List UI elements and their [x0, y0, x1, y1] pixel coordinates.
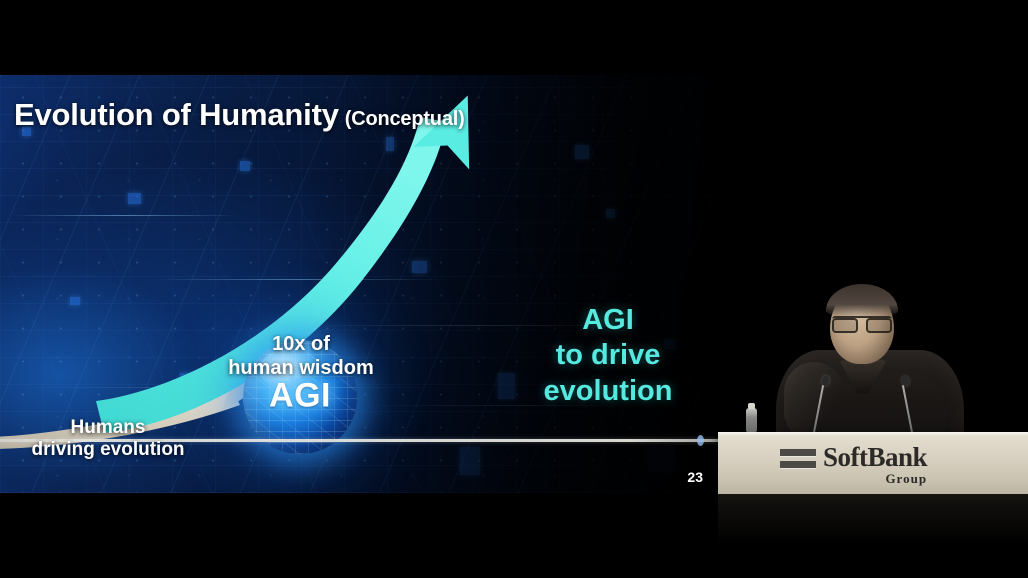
softbank-bars-icon: [780, 449, 816, 473]
label-agi-to-drive-evolution: AGI to drive evolution: [508, 303, 708, 409]
label-humans-driving-evolution: Humans driving evolution: [8, 417, 208, 462]
presentation-slide: AGI Evolution of Humanity(Conceptual) 10…: [0, 75, 718, 493]
presentation-stage-scene: AGI Evolution of Humanity(Conceptual) 10…: [0, 0, 1028, 578]
slide-title: Evolution of Humanity(Conceptual): [14, 97, 465, 133]
slide-page-number: 23: [687, 469, 703, 485]
logo-sub-name: Group: [823, 472, 927, 485]
slide-title-main: Evolution of Humanity: [14, 97, 339, 132]
water-bottle: [746, 408, 757, 432]
agi-sphere-label: AGI: [243, 377, 357, 416]
softbank-group-logo: SoftBank Group: [780, 444, 927, 485]
logo-brand-name: SoftBank: [823, 444, 927, 471]
letterbox-top: [0, 0, 1028, 75]
label-human-wisdom: 10x of human wisdom: [206, 333, 396, 380]
letterbox-bottom: [0, 493, 718, 578]
speaker-person: [770, 288, 970, 448]
softbank-logo-text: SoftBank Group: [823, 444, 927, 485]
speaker-glasses: [832, 316, 892, 329]
podium: SoftBank Group: [718, 432, 1028, 494]
speaker-hair: [826, 284, 898, 318]
podium-lower-shadow: [718, 494, 1028, 578]
slide-title-subtitle: (Conceptual): [345, 108, 465, 130]
timeline-axis-marker: [697, 435, 704, 446]
